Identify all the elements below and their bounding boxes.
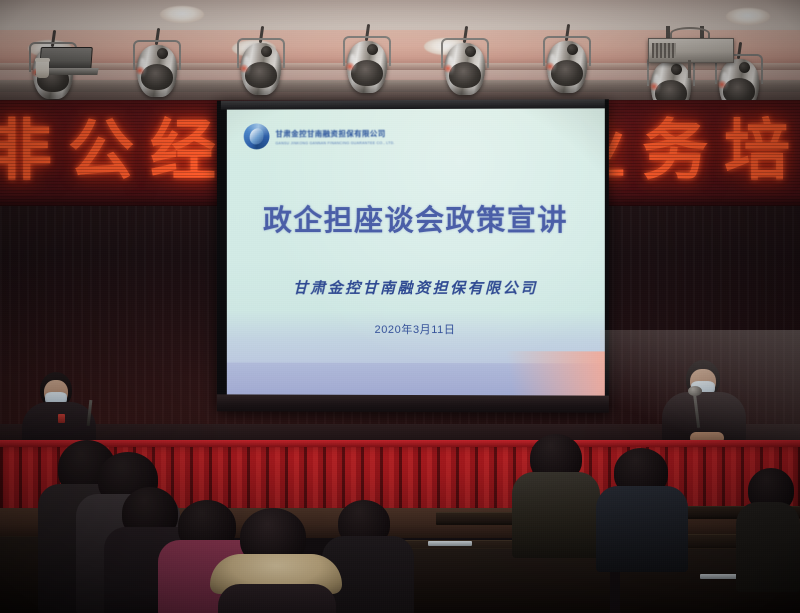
projection-screen: 甘肃金控甘南融资担保有限公司 GANSU JINKONG GANNAN FINA… bbox=[217, 99, 609, 412]
audience-member bbox=[736, 468, 800, 588]
slide-subtitle: 甘肃金控甘南融资担保有限公司 bbox=[227, 277, 605, 298]
logo-english-name: GANSU JINKONG GANNAN FINANCING GUARANTEE… bbox=[275, 141, 394, 145]
screen-bottom-rail bbox=[217, 394, 609, 412]
slide-glare bbox=[496, 351, 605, 397]
slide-date: 2020年3月11日 bbox=[227, 321, 605, 338]
stage-spotlight-icon bbox=[130, 28, 184, 102]
ceiling-downlight-icon bbox=[726, 8, 770, 25]
projector-arm bbox=[688, 60, 691, 78]
stage-spotlight-icon bbox=[438, 26, 492, 100]
stage-spotlight-icon bbox=[340, 24, 394, 98]
presenter-right bbox=[660, 360, 756, 446]
logo-chinese-name: 甘肃金控甘南融资担保有限公司 bbox=[275, 128, 394, 139]
stage-spotlight-icon bbox=[540, 24, 594, 98]
body bbox=[218, 584, 336, 613]
logo-text-block: 甘肃金控甘南融资担保有限公司 GANSU JINKONG GANNAN FINA… bbox=[275, 128, 394, 145]
photo-scene: 非公经 业务培 甘肃金控甘南融资担保有限公司 GANSU JINKONG GAN… bbox=[0, 0, 800, 613]
audience-member bbox=[512, 434, 600, 554]
presentation-slide: 甘肃金控甘南融资担保有限公司 GANSU JINKONG GANNAN FINA… bbox=[227, 108, 605, 397]
company-logo-icon bbox=[244, 123, 270, 149]
paper-sheet bbox=[428, 541, 472, 546]
presenter-left bbox=[18, 372, 110, 446]
slide-logo: 甘肃金控甘南融资担保有限公司 GANSU JINKONG GANNAN FINA… bbox=[244, 123, 395, 149]
stage-spotlight-icon bbox=[234, 26, 288, 100]
projector-vent bbox=[652, 43, 676, 58]
microphone-head-icon bbox=[688, 386, 702, 396]
paper-cup-lid bbox=[35, 58, 50, 62]
audience-member-fur-hood bbox=[214, 508, 338, 613]
paper-cup-icon bbox=[36, 60, 49, 78]
body bbox=[736, 502, 800, 592]
lanyard-badge bbox=[58, 414, 65, 423]
body bbox=[596, 486, 688, 572]
slide-title: 政企担座谈会政策宣讲 bbox=[227, 197, 605, 239]
ceiling-downlight-icon bbox=[160, 6, 204, 23]
body bbox=[512, 472, 600, 558]
ceiling-projector-icon bbox=[648, 26, 734, 68]
audience-member bbox=[596, 448, 688, 568]
